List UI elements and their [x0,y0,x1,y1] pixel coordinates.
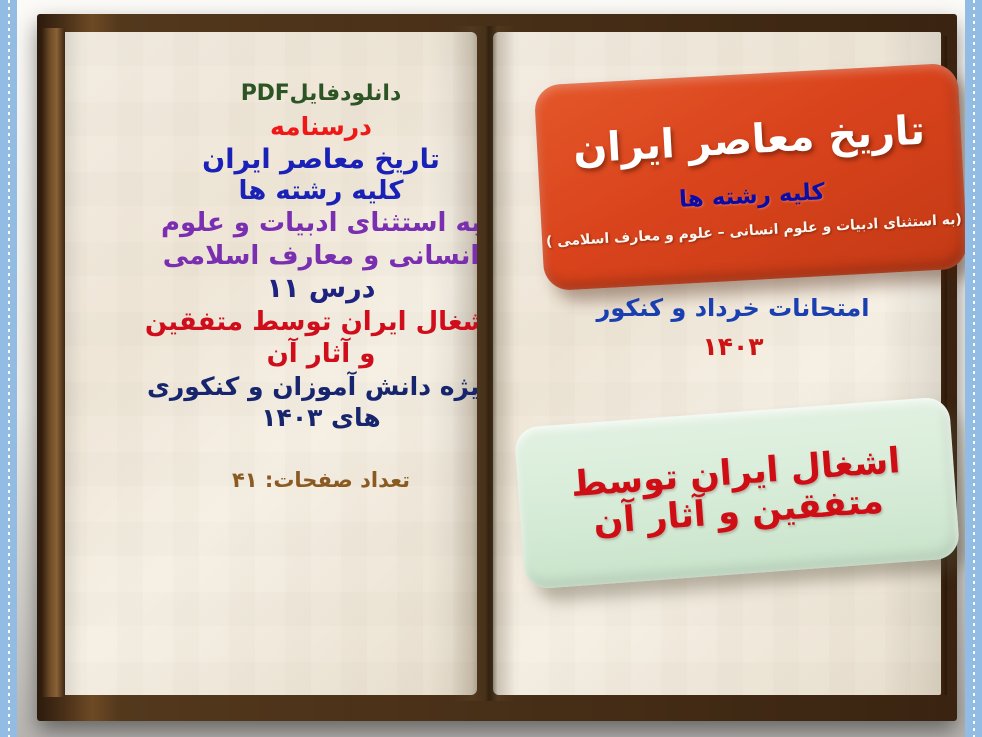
lesson-note-label: درسنامه [121,113,477,141]
slide-canvas: دانلودفایلPDF درسنامه تاریخ معاصر ایران … [0,0,982,737]
plate-course-note: (به استثنای ادبیات و علوم انسانی – علوم … [546,212,963,250]
left-page-text-block: دانلودفایلPDF درسنامه تاریخ معاصر ایران … [121,82,477,494]
exception-line-1: به استثنای ادبیات و علوم [121,208,477,239]
course-title-plate: تاریخ معاصر ایران کلیه رشته ها (به استثن… [534,63,969,292]
right-page-content: تاریخ معاصر ایران کلیه رشته ها (به استثن… [493,32,941,695]
left-border-rail [0,0,17,737]
exam-year-label: ۱۴۰۳ [533,332,933,361]
book-page-block-left [41,28,65,697]
plate-course-majors: کلیه رشته ها [678,179,825,213]
page-count-label: تعداد صفحات: ۴۱ [121,469,477,493]
book-page-left: دانلودفایلPDF درسنامه تاریخ معاصر ایران … [61,32,477,695]
right-border-rail [965,0,982,737]
lesson-title-plate: اشغال ایران توسط متفقین و آثار آن [514,396,961,589]
plate-course-title: تاریخ معاصر ایران [572,110,926,171]
lesson-title-line-1: اشغال ایران توسط متفقین [121,307,477,338]
lesson-title-line-2: و آثار آن [121,339,477,370]
audience-line-1: ویژه دانش آموزان و کنکوری [121,372,477,402]
book-title: تاریخ معاصر ایران [121,145,477,175]
majors-label: کلیه رشته ها [121,177,477,206]
exception-line-2: انسانی و معارف اسلامی [121,241,477,272]
lesson-number: درس ۱۱ [121,274,477,304]
exam-session-label: امتحانات خرداد و کنکور [533,294,933,322]
audience-line-2: های ۱۴۰۳ [121,403,477,433]
open-book: دانلودفایلPDF درسنامه تاریخ معاصر ایران … [17,6,965,731]
exam-info-block: امتحانات خرداد و کنکور ۱۴۰۳ [533,294,933,361]
download-pdf-label[interactable]: دانلودفایلPDF [121,82,477,107]
